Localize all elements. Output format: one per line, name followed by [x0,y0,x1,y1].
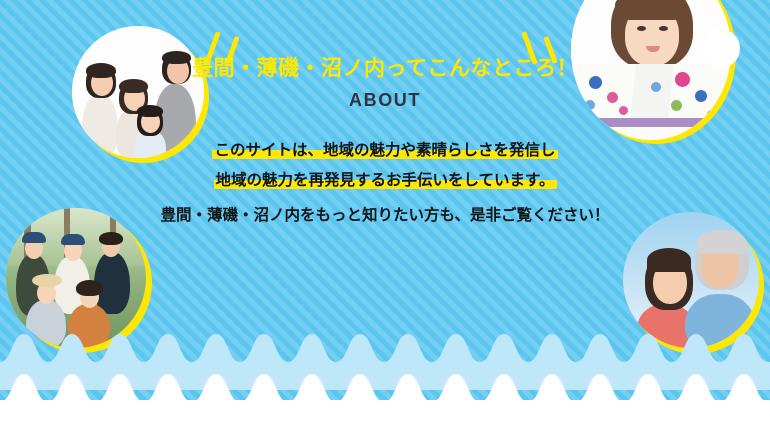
about-section: 豊間・薄磯・沼ノ内ってこんなところ！ ABOUT このサイトは、地域の魅力や素晴… [0,0,770,434]
section-heading-jp: 豊間・薄磯・沼ノ内ってこんなところ！ [0,52,770,82]
about-body-text: このサイトは、地域の魅力や素晴らしさを発信し 地域の魅力を再発見するお手伝いをし… [0,136,770,196]
wave-divider-white [0,370,770,434]
section-heading-en: ABOUT [0,90,770,111]
about-body-line-2: 地域の魅力を再発見するお手伝いをしています。 [0,166,770,196]
about-body-line-3: 豊間・薄磯・沼ノ内をもっと知りたい方も、是非ご覧ください！ [0,203,770,225]
about-body-line-1: このサイトは、地域の魅力や素晴らしさを発信し [0,136,770,166]
senior-couple-photo [623,212,759,348]
young-group-photo [6,208,146,348]
